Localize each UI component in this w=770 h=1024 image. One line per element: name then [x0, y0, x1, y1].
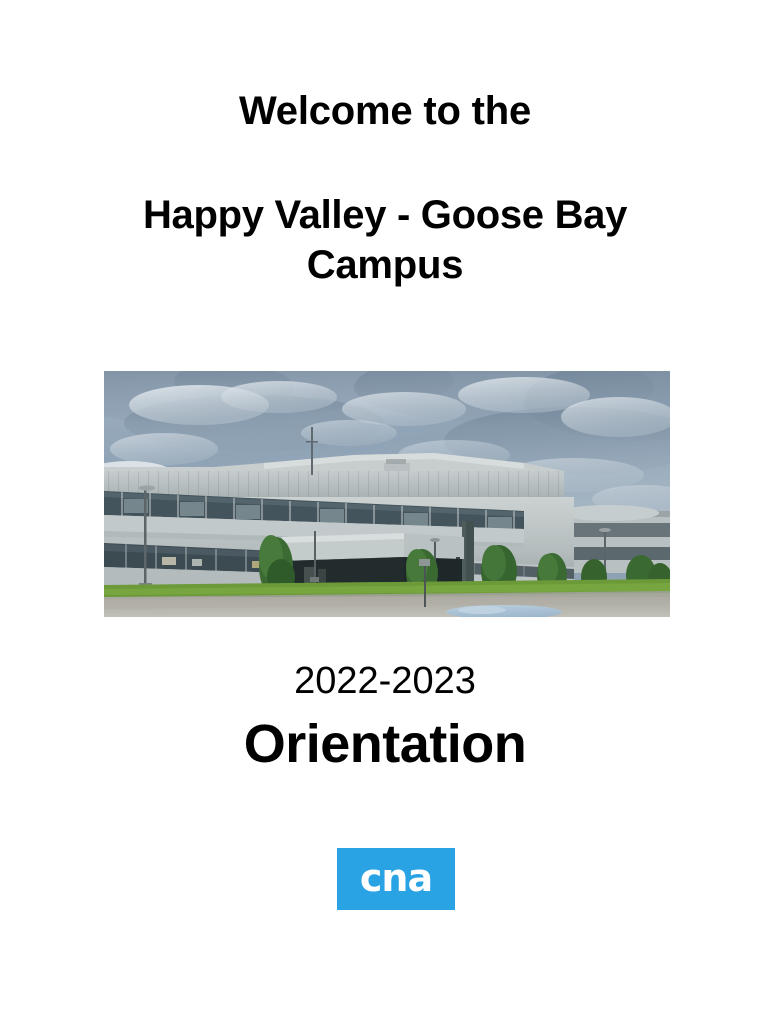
- orientation-title: Orientation: [0, 712, 770, 776]
- academic-year: 2022-2023: [0, 658, 770, 704]
- title-line-welcome: Welcome to the: [0, 88, 770, 134]
- cover-page: Welcome to the Happy Valley - Goose Bay …: [0, 0, 770, 1024]
- cna-logo: cna: [337, 848, 455, 910]
- cna-logo-text: cna: [337, 848, 455, 910]
- title-spacer: [0, 134, 770, 190]
- page-title: Welcome to the Happy Valley - Goose Bay …: [0, 88, 770, 290]
- cna-logo-background: cna: [337, 848, 455, 910]
- title-line-campus-name: Happy Valley - Goose Bay: [0, 190, 770, 240]
- campus-photo: [104, 371, 670, 617]
- campus-photo-image: [104, 371, 670, 617]
- title-line-campus-word: Campus: [0, 240, 770, 290]
